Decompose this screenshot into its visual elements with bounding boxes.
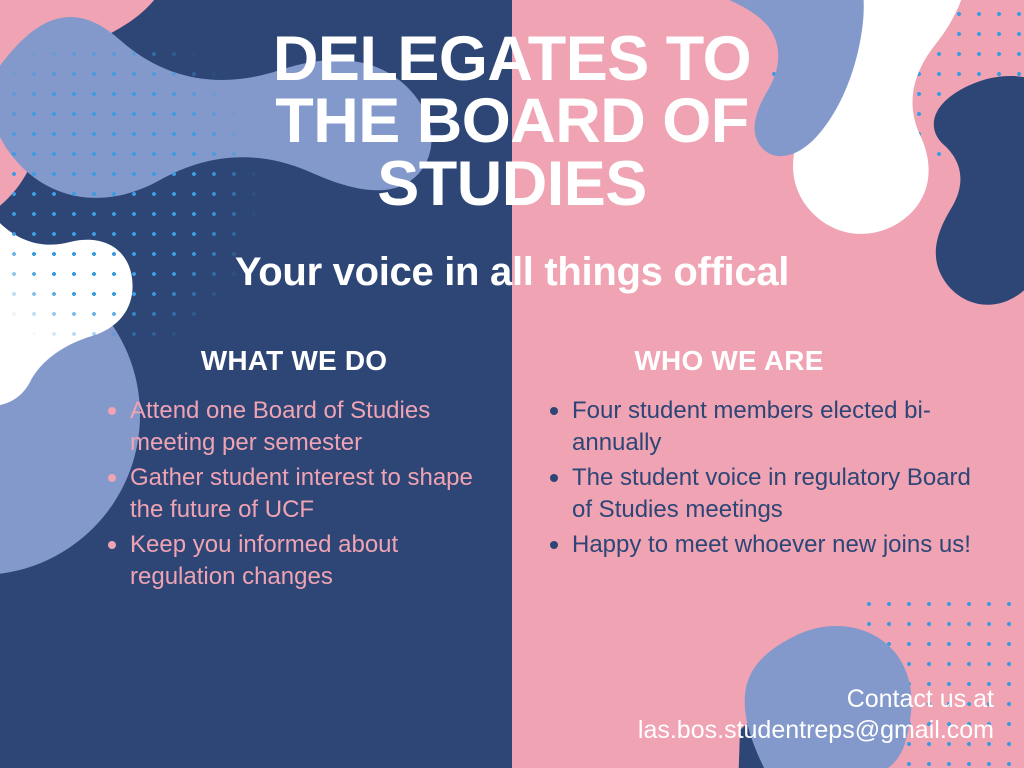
contact-block: Contact us at las.bos.studentreps@gmail.… xyxy=(638,684,994,747)
list-item: Attend one Board of Studies meeting per … xyxy=(100,395,500,460)
list-item: Gather student interest to shape the fut… xyxy=(100,462,500,527)
list-item-label: The student voice in regulatory Board of… xyxy=(572,464,971,523)
contact-label: Contact us at xyxy=(638,684,994,715)
list-item-label: Happy to meet whoever new joins us! xyxy=(572,531,971,558)
column-who-we-are: WHO WE ARE Four student members elected … xyxy=(524,345,994,563)
bullet-list-who-we-are: Four student members elected bi-annually… xyxy=(524,395,994,561)
page-title: DELEGATES TO THE BOARD OF STUDIES xyxy=(0,28,1024,215)
list-item-label: Attend one Board of Studies meeting per … xyxy=(130,397,430,456)
list-item-label: Keep you informed about regulation chang… xyxy=(130,531,398,590)
page-subtitle: Your voice in all things offical xyxy=(0,250,1024,295)
column-heading-what-we-do: WHAT WE DO xyxy=(60,345,500,377)
bullet-list-what-we-do: Attend one Board of Studies meeting per … xyxy=(60,395,500,593)
list-item: Happy to meet whoever new joins us! xyxy=(542,529,994,561)
list-item: Keep you informed about regulation chang… xyxy=(100,529,500,594)
contact-email[interactable]: las.bos.studentreps@gmail.com xyxy=(638,715,994,746)
list-item-label: Four student members elected bi-annually xyxy=(572,397,931,456)
list-item: The student voice in regulatory Board of… xyxy=(542,462,994,527)
list-item-label: Gather student interest to shape the fut… xyxy=(130,464,473,523)
column-heading-who-we-are: WHO WE ARE xyxy=(524,345,994,377)
column-what-we-do: WHAT WE DO Attend one Board of Studies m… xyxy=(60,345,500,595)
list-item: Four student members elected bi-annually xyxy=(542,395,994,460)
poster-canvas: DELEGATES TO THE BOARD OF STUDIES Your v… xyxy=(0,0,1024,768)
